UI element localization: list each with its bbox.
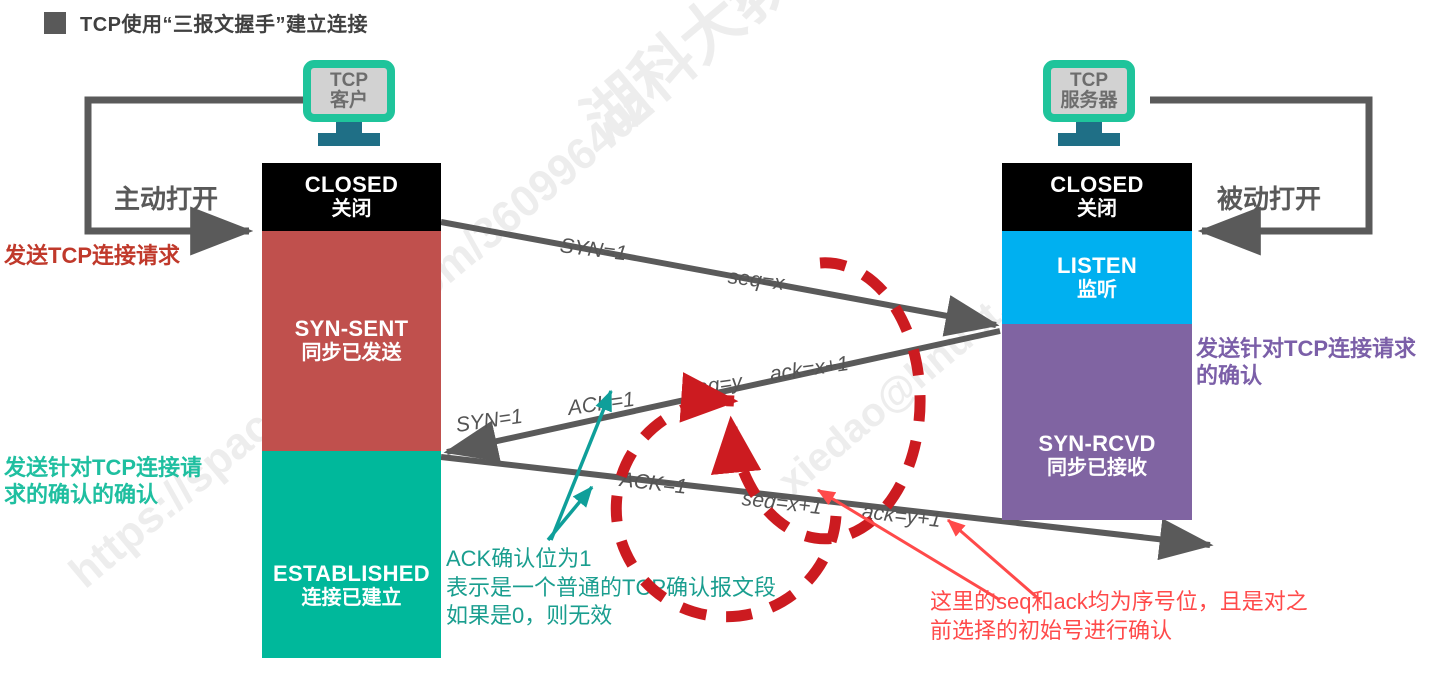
watermark-text: 湖科大教书匠 [560,0,903,159]
msg-field-syn-ack-1: ACK=1 [566,388,636,421]
state-name-cn: 同步已接收 [1047,457,1147,479]
title-bullet-icon [44,12,66,34]
state-name-cn: 同步已发送 [302,342,402,364]
client-label-line1: TCP [330,71,368,91]
active-open-label: 主动打开 [114,184,218,216]
server-monitor-neck [1076,122,1102,133]
client-monitor-base [318,133,380,146]
annotation-send-ack-of-ack: 发送针对TCP连接请 求的确认的确认 [4,455,202,509]
state-name: CLOSED [1050,173,1143,198]
server-label-line2: 服务器 [1060,91,1117,111]
state-name: LISTEN [1057,254,1137,279]
msg-field-syn-ack-2: seq=y [684,370,743,402]
state-name: ESTABLISHED [273,562,430,587]
msg-field-syn-1: seq=x [726,265,785,296]
state-name: SYN-SENT [295,317,409,342]
server-monitor-base [1058,133,1120,146]
tcp-server-computer: TCP 服务器 [1043,60,1135,146]
state-name-cn: 监听 [1077,279,1117,301]
client-monitor-screen: TCP 客户 [303,60,395,122]
server-state-listen: LISTEN 监听 [1002,231,1192,324]
server-state-closed: CLOSED 关闭 [1002,163,1192,231]
client-state-closed: CLOSED 关闭 [262,163,441,231]
annotation-ack-explain: ACK确认位为1 表示是一个普通的TCP确认报文段 如果是0，则无效 [446,545,776,631]
client-label-line2: 客户 [330,91,368,111]
server-label-line1: TCP [1070,71,1108,91]
msg-field-syn-ack-3: ack=x+1 [768,352,850,387]
client-state-established: ESTABLISHED 连接已建立 [262,451,441,658]
passive-open-label: 被动打开 [1217,184,1321,216]
annotation-seq-explain: 这里的seq和ack均为序号位，且是对之 前选择的初始号进行确认 [930,588,1308,645]
state-name: CLOSED [305,173,398,198]
server-state-syn-rcvd: SYN-RCVD 同步已接收 [1002,324,1192,520]
teal-pointer-lower [548,487,592,540]
msg-field-ack-0: ACK=1 [619,468,688,500]
msg-field-syn-ack-0: SYN=1 [454,405,524,438]
state-name-cn: 连接已建立 [302,587,402,609]
annotation-send-ack: 发送针对TCP连接请求 的确认 [1196,336,1416,390]
annotation-send-request: 发送TCP连接请求 [4,243,180,270]
msg-field-syn-0: SYN=1 [558,234,628,266]
msg-field-ack-2: ack=y+1 [861,500,943,533]
page-title: TCP使用“三报文握手”建立连接 [44,8,368,37]
state-name-cn: 关闭 [332,198,372,220]
msg-field-ack-1: seq=x+1 [741,487,824,520]
client-state-syn-sent: SYN-SENT 同步已发送 [262,231,441,451]
client-monitor-neck [336,122,362,133]
server-monitor-screen: TCP 服务器 [1043,60,1135,122]
message-arrow-syn [441,222,996,325]
tcp-client-computer: TCP 客户 [303,60,395,146]
state-name: SYN-RCVD [1038,432,1155,457]
title-label: TCP使用“三报文握手”建立连接 [80,8,368,37]
state-name-cn: 关闭 [1077,198,1117,220]
